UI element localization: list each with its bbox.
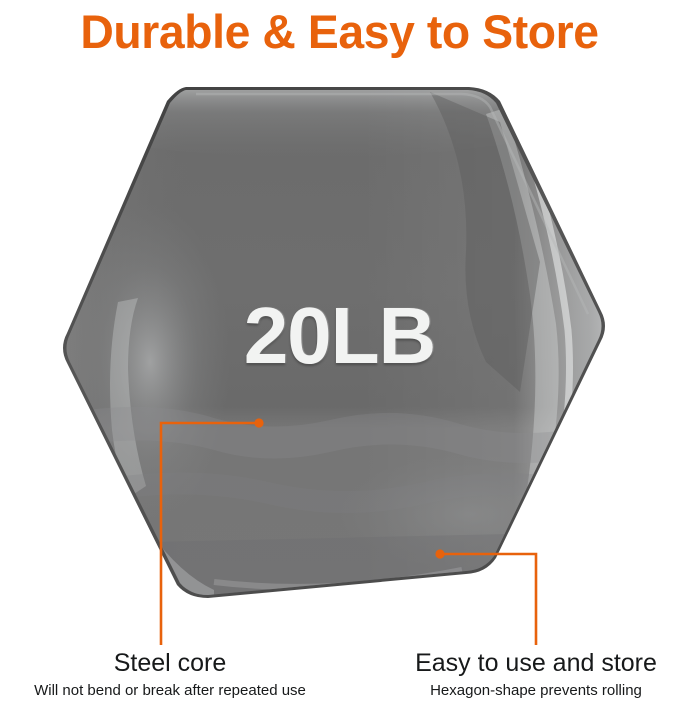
caption-steel-core: Steel core Will not bend or break after …	[0, 648, 370, 701]
hexagon-dumbbell-illustration	[0, 62, 679, 618]
page-title: Durable & Easy to Store	[5, 0, 674, 62]
dumbbell-body	[40, 72, 640, 612]
caption-subtitle-easy-to-use: Hexagon-shape prevents rolling	[336, 680, 679, 701]
caption-easy-to-use-and-store: Easy to use and store Hexagon-shape prev…	[336, 648, 679, 701]
product-feature-infographic: Durable & Easy to Store	[0, 0, 679, 706]
caption-title-steel-core: Steel core	[0, 648, 370, 678]
product-image	[0, 62, 679, 618]
caption-subtitle-steel-core: Will not bend or break after repeated us…	[0, 680, 370, 701]
caption-title-easy-to-use: Easy to use and store	[336, 648, 679, 678]
